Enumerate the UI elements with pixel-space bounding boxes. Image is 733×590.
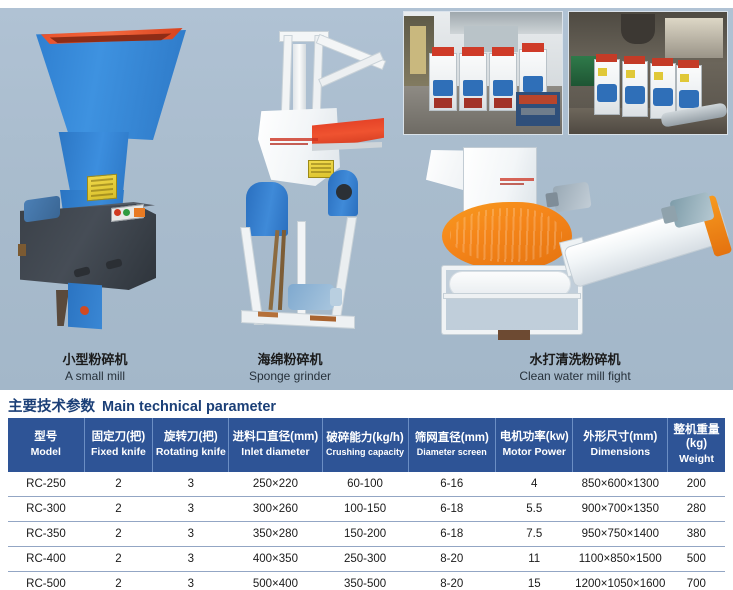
cell-value: 3 (153, 521, 229, 546)
frame-cross-member (444, 294, 580, 298)
workshop-photo-1 (404, 12, 562, 134)
spec-title-en: Main technical parameter (102, 399, 276, 415)
photo-machine (595, 60, 619, 114)
table-body: RC-25023250×22060-1006-164850×600×130020… (8, 472, 725, 590)
photo-machine (677, 66, 701, 112)
header-en: Dimensions (574, 446, 666, 459)
header-en: Diameter screen (410, 447, 494, 458)
cell-value: 950×750×1400 (573, 521, 668, 546)
workshop-photo-2 (569, 12, 727, 134)
cell-value: 400×350 (229, 546, 322, 571)
cell-value: 8-20 (408, 571, 495, 590)
cell-value: 2 (84, 546, 153, 571)
brand-text-decal (270, 138, 318, 150)
cell-value: 350×280 (229, 521, 322, 546)
cell-model: RC-500 (8, 571, 84, 590)
stand-leg-left (241, 228, 262, 324)
cell-value: 900×700×1350 (573, 496, 668, 521)
cell-model: RC-300 (8, 496, 84, 521)
cell-value: 8-20 (408, 546, 495, 571)
column-header-diameter-screen: 筛网直径(mm) Diameter screen (408, 418, 495, 472)
belt-guard-right (328, 170, 358, 216)
header-en: Weight (669, 453, 724, 466)
photo-machine (460, 54, 486, 110)
header-cn: 破碎能力(kg/h) (324, 431, 407, 445)
cell-value: 2 (84, 521, 153, 546)
table-row: RC-50023500×400350-5008-20151200×1050×16… (8, 571, 725, 590)
header-en: Model (9, 446, 83, 459)
cell-value: 700 (668, 571, 725, 590)
cell-value: 250-300 (322, 546, 408, 571)
support-arm-lower (319, 53, 382, 86)
column-header-motor-power: 电机功率(kw) Motor Power (496, 418, 573, 472)
drive-belt-two (278, 230, 286, 310)
photo-duct (621, 14, 655, 44)
header-cn: 进料口直径(mm) (230, 430, 320, 444)
photo-window (665, 18, 723, 58)
cell-value: 2 (84, 571, 153, 590)
caption-cn: 小型粉碎机 (15, 352, 175, 369)
product-image-sponge-grinder (236, 22, 396, 347)
cell-value: 7.5 (496, 521, 573, 546)
cell-value: 500×400 (229, 571, 322, 590)
spec-title-cn: 主要技术参数 (8, 399, 95, 415)
cell-model: RC-400 (8, 546, 84, 571)
photo-workbench (516, 92, 560, 126)
cell-value: 2 (84, 496, 153, 521)
cell-value: 1100×850×1500 (573, 546, 668, 571)
cell-value: 3 (153, 496, 229, 521)
product-spec-page: 小型粉碎机 A small mill 海绵粉碎机 Sponge grinder … (0, 0, 733, 590)
cell-model: RC-250 (8, 472, 84, 497)
cell-value: 380 (668, 521, 725, 546)
cell-value: 3 (153, 472, 229, 497)
photo-machine (490, 54, 516, 110)
header-en: Inlet diameter (230, 446, 320, 459)
header-en: Crushing capacity (324, 447, 407, 458)
cell-value: 350-500 (322, 571, 408, 590)
caption-sponge-grinder: 海绵粉碎机 Sponge grinder (210, 352, 370, 384)
support-arm-upper (317, 35, 385, 69)
cell-value: 15 (496, 571, 573, 590)
cell-value: 60-100 (322, 472, 408, 497)
cell-value: 3 (153, 546, 229, 571)
spec-section-title: 主要技术参数Main technical parameter (8, 395, 276, 416)
column-header-model: 型号 Model (8, 418, 84, 472)
caption-clean-water-mill: 水打清洗粉碎机 Clean water mill fight (480, 352, 670, 384)
header-en: Motor Power (497, 446, 571, 459)
drive-motor (552, 182, 591, 213)
caption-en: A small mill (15, 369, 175, 385)
column-header-rotating-knife: 旋转刀(把) Rotating knife (153, 418, 229, 472)
product-image-clean-water-mill (424, 144, 724, 354)
side-bracket (18, 244, 26, 256)
frame-foot (498, 330, 530, 340)
brand-text-decal (500, 178, 534, 190)
caption-en: Clean water mill fight (480, 369, 670, 385)
cell-value: 1200×1050×1600 (573, 571, 668, 590)
hopper-shape (36, 30, 186, 140)
cell-value: 280 (668, 496, 725, 521)
header-cn: 型号 (9, 430, 83, 444)
cell-value: 3 (153, 571, 229, 590)
stop-button-icon (114, 209, 121, 216)
cell-value: 250×220 (229, 472, 322, 497)
header-en: Fixed knife (86, 446, 152, 459)
photo-machine (651, 64, 675, 118)
belt-guard-left (246, 182, 288, 236)
top-white-strip (0, 4, 733, 8)
photo-machine (430, 54, 456, 110)
start-button-icon (123, 209, 130, 216)
cell-value: 300×260 (229, 496, 322, 521)
table-row: RC-35023350×280150-2006-187.5950×750×140… (8, 521, 725, 546)
caption-cn: 海绵粉碎机 (210, 352, 370, 369)
photo-machine (623, 62, 647, 116)
technical-parameter-table: 型号 Model 固定刀(把) Fixed knife 旋转刀(把) Rotat… (8, 418, 725, 590)
column-header-crushing-capacity: 破碎能力(kg/h) Crushing capacity (322, 418, 408, 472)
cell-value: 2 (84, 472, 153, 497)
caption-en: Sponge grinder (210, 369, 370, 385)
cell-value: 850×600×1300 (573, 472, 668, 497)
table-header-row: 型号 Model 固定刀(把) Fixed knife 旋转刀(把) Rotat… (8, 418, 725, 472)
header-cn: 整机重量(kg) (669, 423, 724, 452)
discharge-box (68, 283, 102, 329)
cell-value: 150-200 (322, 521, 408, 546)
product-showcase-panel: 小型粉碎机 A small mill 海绵粉碎机 Sponge grinder … (0, 4, 733, 390)
warning-label-icon (87, 174, 117, 202)
base-detail-left (258, 311, 278, 317)
header-cn: 筛网直径(mm) (410, 431, 494, 445)
column-header-weight: 整机重量(kg) Weight (668, 418, 725, 472)
table-row: RC-30023300×260100-1506-185.5900×700×135… (8, 496, 725, 521)
product-image-small-mill (18, 22, 193, 347)
cell-value: 6-16 (408, 472, 495, 497)
table-row: RC-40023400×350250-3008-20111100×850×150… (8, 546, 725, 571)
electric-motor (288, 284, 334, 310)
column-header-fixed-knife: 固定刀(把) Fixed knife (84, 418, 153, 472)
specification-section: 主要技术参数Main technical parameter 型号 Model … (0, 390, 733, 590)
table-row: RC-25023250×22060-1006-164850×600×130020… (8, 472, 725, 497)
cell-value: 6-18 (408, 521, 495, 546)
cell-value: 100-150 (322, 496, 408, 521)
cell-value: 5.5 (496, 496, 573, 521)
orange-rotor-guard (442, 202, 572, 270)
support-frame (442, 266, 582, 334)
header-cn: 旋转刀(把) (154, 430, 227, 444)
cell-value: 500 (668, 546, 725, 571)
switch-icon (134, 208, 145, 217)
cell-model: RC-350 (8, 521, 84, 546)
cell-value: 4 (496, 472, 573, 497)
header-cn: 固定刀(把) (86, 430, 152, 444)
caption-small-mill: 小型粉碎机 A small mill (15, 352, 175, 384)
cell-value: 11 (496, 546, 573, 571)
cell-value: 6-18 (408, 496, 495, 521)
cell-value: 200 (668, 472, 725, 497)
column-header-inlet-diameter: 进料口直径(mm) Inlet diameter (229, 418, 322, 472)
header-cn: 电机功率(kw) (497, 430, 571, 444)
caption-cn: 水打清洗粉碎机 (480, 352, 670, 369)
header-cn: 外形尺寸(mm) (574, 430, 666, 444)
header-en: Rotating knife (154, 446, 227, 459)
column-header-dimensions: 外形尺寸(mm) Dimensions (573, 418, 668, 472)
